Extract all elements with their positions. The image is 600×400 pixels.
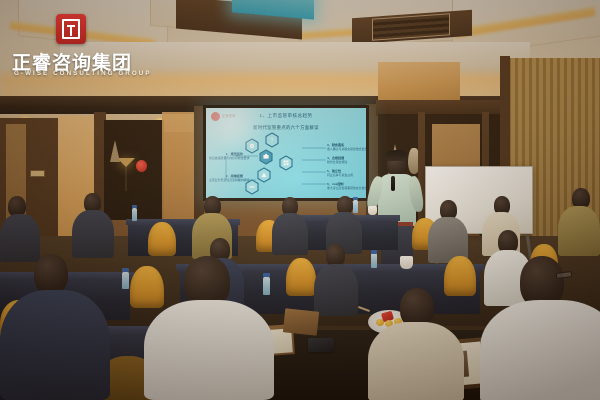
attendee-body <box>480 300 600 400</box>
water-bottle <box>371 253 377 268</box>
attendee-body <box>0 214 40 262</box>
wall-panel-amber <box>378 62 460 104</box>
bottle-cap <box>263 273 270 277</box>
attendee-body <box>72 210 114 258</box>
water-bottle <box>122 272 129 289</box>
smartphone[interactable] <box>308 338 334 352</box>
slide-annotation-right: 6、risk控制 重大诉讼及担保事项的充分披露说明 <box>327 182 366 191</box>
watermark-brand-en: G-WISE CONSULTING GROUP <box>14 70 152 77</box>
slide-annotation-left: 1、规范运作 信息披露质量与内控有效性要求 <box>209 152 243 161</box>
attendee-body <box>558 206 600 256</box>
teacup <box>400 256 413 269</box>
attendee-body <box>144 300 274 400</box>
vase-decoration <box>110 140 120 162</box>
slide-annotation-right: 4、合规经营 税务社保合规性 <box>327 156 347 165</box>
watermark-badge-icon <box>56 14 86 44</box>
water-bottle <box>263 277 270 295</box>
attendee-head <box>34 254 68 294</box>
bottle-cap <box>132 205 137 208</box>
chair <box>444 256 476 296</box>
projection-screen-frame: 正睿咨询 1、上市监管审核总趋势 新时代监管重点的六个方面解读 <box>203 105 369 201</box>
attendee-body <box>368 322 464 400</box>
water-bottle <box>353 200 358 213</box>
chair <box>286 258 316 296</box>
flower-decoration <box>136 160 147 172</box>
lamp-stem <box>125 165 127 191</box>
leather-folder <box>283 308 319 335</box>
conference-room-photo: 正睿咨询 1、上市监管审核总趋势 新时代监管重点的六个方面解读 <box>0 0 600 400</box>
water-bottle <box>132 208 137 221</box>
attendee-body <box>314 264 358 316</box>
svg-text:?: ? <box>271 138 274 144</box>
bottle-cap <box>371 250 377 254</box>
microphone-icon <box>391 176 395 191</box>
chair <box>130 266 164 308</box>
bottle-cap <box>122 268 129 272</box>
bottle-cap <box>353 197 358 200</box>
teacup <box>368 206 377 215</box>
orange-fruit <box>376 319 384 326</box>
projection-screen: 正睿咨询 1、上市监管审核总趋势 新时代监管重点的六个方面解读 <box>206 108 366 198</box>
wall-switch-plate[interactable] <box>30 170 45 177</box>
attendee-body <box>0 290 110 400</box>
presenter-hair <box>385 150 408 161</box>
slide-annotation-left: 2、持续经营 主营业务稳定性及盈利能力核查 <box>209 174 243 183</box>
hex-grid <box>280 156 292 170</box>
slide-annotation-right: 5、独立性 同业竞争与资金占用 <box>327 169 353 178</box>
attendee-body <box>272 213 308 255</box>
chair <box>148 222 176 256</box>
wall-panel-amber <box>162 112 196 222</box>
slide-annotation-right: 3、财务真实 收入确认与关联交易穿透式监管审核 <box>327 143 366 152</box>
niche-divider <box>418 112 425 234</box>
